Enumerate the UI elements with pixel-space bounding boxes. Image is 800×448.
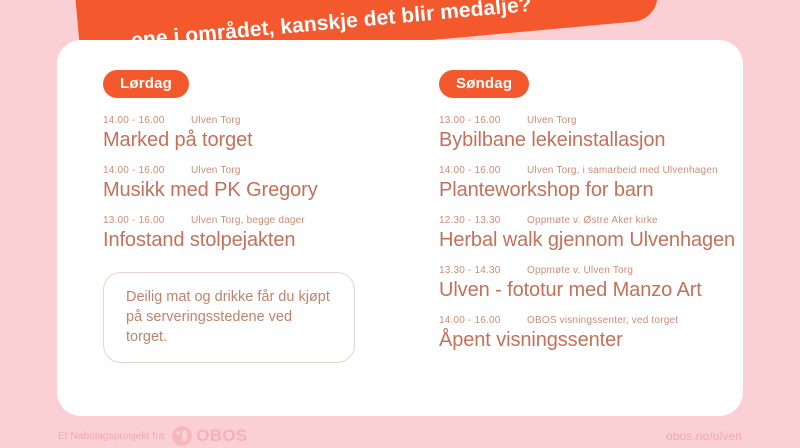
footer-brand-group: Et Nabolagsprosjekt fra OBOS [58,426,248,446]
obos-logo: OBOS [172,426,247,446]
event-item[interactable]: 12.30 - 13.30 Oppmøte v. Østre Aker kirk… [439,215,735,252]
event-meta: 13.00 - 16.00 Ulven Torg [439,115,735,126]
schedule-columns: Lørdag 14.00 - 16.00 Ulven Torg Marked p… [103,70,703,365]
day-badge-sunday: Søndag [439,70,529,98]
event-place: Oppmøte v. Østre Aker kirke [527,215,658,226]
event-item[interactable]: 13.00 - 16.00 Ulven Torg Bybilbane lekei… [439,115,735,152]
event-time: 14.00 - 16.00 [103,165,177,176]
event-title: Musikk med PK Gregory [103,179,399,202]
schedule-column-sunday: Søndag 13.00 - 16.00 Ulven Torg Bybilban… [439,70,735,365]
event-time: 14.00 - 16.00 [103,115,177,126]
food-note-text: Deilig mat og drikke får du kjøpt på ser… [126,287,334,347]
event-meta: 14.00 - 16.00 OBOS visningssenter, ved t… [439,315,735,326]
event-item[interactable]: 13.00 - 16.00 Ulven Torg, begge dager In… [103,215,399,252]
food-note-box: Deilig mat og drikke får du kjøpt på ser… [103,272,355,363]
event-title: Marked på torget [103,129,399,152]
event-meta: 13.30 - 14.30 Oppmøte v. Ulven Torg [439,265,735,276]
event-time: 13.00 - 16.00 [103,215,177,226]
event-place: OBOS visningssenter, ved torget [527,315,678,326]
event-place: Ulven Torg, begge dager [191,215,305,226]
event-item[interactable]: 13.30 - 14.30 Oppmøte v. Ulven Torg Ulve… [439,265,735,302]
event-item[interactable]: 14.00 - 16.00 Ulven Torg Musikk med PK G… [103,165,399,202]
event-time: 14.00 - 16.00 [439,165,513,176]
footer-kicker: Et Nabolagsprosjekt fra [58,431,164,442]
event-place: Ulven Torg [191,115,241,126]
obos-mark-icon [172,426,192,446]
event-meta: 13.00 - 16.00 Ulven Torg, begge dager [103,215,399,226]
event-time: 14.00 - 16.00 [439,315,513,326]
event-item[interactable]: 14.00 - 16.00 Ulven Torg Marked på torge… [103,115,399,152]
event-place: Ulven Torg [191,165,241,176]
event-time: 12.30 - 13.30 [439,215,513,226]
day-badge-saturday: Lørdag [103,70,189,98]
event-meta: 14.00 - 16.00 Ulven Torg [103,115,399,126]
event-meta: 14.00 - 16.00 Ulven Torg [103,165,399,176]
footer-url[interactable]: obos.no/ulven [666,429,742,443]
event-time: 13.00 - 16.00 [439,115,513,126]
event-title: Åpent visningssenter [439,329,735,352]
event-meta: 14.00 - 16.00 Ulven Torg, i samarbeid me… [439,165,735,176]
footer: Et Nabolagsprosjekt fra OBOS obos.no/ulv… [0,424,800,448]
event-title: Infostand stolpejakten [103,229,399,252]
event-list-saturday: 14.00 - 16.00 Ulven Torg Marked på torge… [103,115,399,252]
event-place: Oppmøte v. Ulven Torg [527,265,633,276]
schedule-column-saturday: Lørdag 14.00 - 16.00 Ulven Torg Marked p… [103,70,399,365]
event-place: Ulven Torg [527,115,577,126]
event-time: 13.30 - 14.30 [439,265,513,276]
event-title: Herbal walk gjennom Ulvenhagen [439,229,735,252]
event-item[interactable]: 14.00 - 16.00 Ulven Torg, i samarbeid me… [439,165,735,202]
event-title: Ulven - fototur med Manzo Art [439,279,735,302]
event-place: Ulven Torg, i samarbeid med Ulvenhagen [527,165,718,176]
event-title: Bybilbane lekeinstallasjon [439,129,735,152]
obos-wordmark: OBOS [196,426,247,446]
event-meta: 12.30 - 13.30 Oppmøte v. Østre Aker kirk… [439,215,735,226]
event-title: Planteworkshop for barn [439,179,735,202]
event-item[interactable]: 14.00 - 16.00 OBOS visningssenter, ved t… [439,315,735,352]
event-list-sunday: 13.00 - 16.00 Ulven Torg Bybilbane lekei… [439,115,735,352]
schedule-card: Lørdag 14.00 - 16.00 Ulven Torg Marked p… [57,40,743,416]
